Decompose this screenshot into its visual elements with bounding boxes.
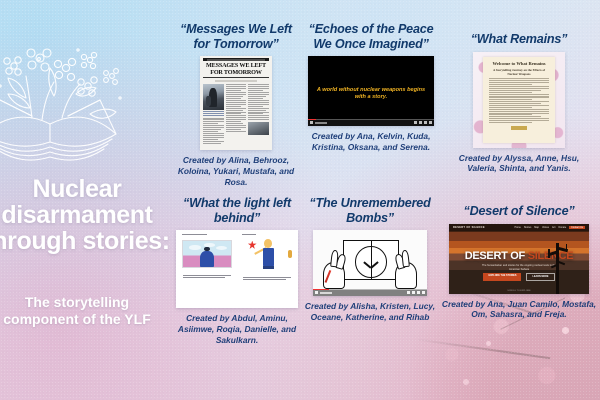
play-icon[interactable] — [310, 121, 313, 124]
illustration-left-label — [182, 234, 222, 236]
page-title: Nuclear disarmament through stories: — [0, 176, 172, 254]
video-player-controls[interactable] — [308, 119, 434, 126]
nav-item-contact-us[interactable]: Contact Us — [569, 226, 585, 229]
peace-symbol-icon — [355, 246, 387, 278]
website-navbar[interactable]: DESERT OF SILENCE Home Stories Map Voice… — [449, 224, 589, 232]
illustration-television-scene — [182, 240, 232, 268]
nav-item-voices[interactable]: Voices — [542, 226, 549, 229]
settings-gear-icon[interactable] — [412, 291, 415, 294]
nav-item-home[interactable]: Home — [514, 226, 520, 229]
project-title: “What Remains” — [443, 32, 595, 47]
website-logo[interactable]: DESERT OF SILENCE — [453, 226, 485, 229]
video-progress-bar[interactable] — [313, 289, 427, 290]
hand-icon — [393, 252, 418, 289]
fullscreen-icon[interactable] — [429, 121, 432, 124]
explore-the-stories-button[interactable]: EXPLORE THE STORIES — [483, 273, 521, 281]
website-subheading: A Storytelling Journey on the Effects of… — [489, 68, 549, 76]
nav-item-act[interactable]: Act — [552, 226, 555, 229]
nav-item-donate[interactable]: Donate — [558, 226, 566, 229]
website-body-text — [489, 78, 549, 122]
theater-mode-icon[interactable] — [424, 121, 427, 124]
video-caption: A world without nuclear weapons begins w… — [316, 87, 427, 101]
newspaper-columns — [203, 84, 269, 146]
illustration-left-caption — [183, 275, 230, 279]
newspaper-column-text — [203, 118, 224, 145]
settings-gear-icon[interactable] — [419, 121, 422, 124]
video-thumbnail[interactable]: A world without nuclear weapons begins w… — [308, 56, 434, 126]
hand-icon — [322, 252, 347, 289]
project-card-messages-we-left-for-tomorrow[interactable]: “Messages We Left for Tomorrow” MESSAGES… — [172, 22, 300, 188]
hero-panel: Nuclear disarmament through stories: The… — [0, 0, 172, 400]
project-card-echoes-of-the-peace-we-once-imagined[interactable]: “Echoes of the Peace We Once Imagined” A… — [306, 22, 436, 153]
play-icon[interactable] — [315, 291, 318, 294]
project-credit: Created by Alina, Behrooz, Koloina, Yuka… — [172, 155, 300, 187]
newspaper-photo-secondary — [248, 122, 269, 135]
video-timestamp — [315, 122, 327, 124]
website-thumbnail[interactable]: DESERT OF SILENCE Home Stories Map Voice… — [449, 224, 589, 294]
website-heading: Welcome to What Remains — [489, 61, 549, 66]
project-credit: Created by Abdul, Aminu, Asiimwe, Roqia,… — [172, 313, 302, 345]
newspaper-column-text — [248, 84, 269, 121]
illustration-right-caption — [243, 277, 290, 281]
illustration-right-label — [242, 234, 282, 236]
newspaper-thumbnail[interactable]: MESSAGES WE LEFT FOR TOMORROW — [200, 56, 272, 150]
project-title: “What the light left behind” — [172, 196, 302, 225]
project-title: “The Unremembered Bombs” — [304, 196, 436, 225]
project-credit: Created by Alisha, Kristen, Lucy, Oceane… — [304, 301, 436, 323]
website-nav-items[interactable]: Home Stories Map Voices Act Donate Conta… — [514, 226, 585, 229]
hero-title-part-1: DESERT OF — [465, 250, 528, 262]
video-thumbnail[interactable] — [313, 230, 427, 296]
peace-sign-drawing-illustration — [313, 230, 427, 296]
project-card-what-the-light-left-behind[interactable]: “What the light left behind” — [172, 196, 302, 346]
website-thumbnail[interactable]: Welcome to What Remains A Storytelling J… — [473, 52, 565, 148]
project-credit: Created by Ana, Kelvin, Kuda, Kristina, … — [306, 131, 436, 153]
nav-item-stories[interactable]: Stories — [524, 226, 531, 229]
website-learn-more-button[interactable] — [511, 126, 527, 130]
video-right-controls[interactable] — [407, 291, 425, 294]
website-content-card: Welcome to What Remains A Storytelling J… — [483, 57, 555, 142]
theater-mode-icon[interactable] — [417, 291, 420, 294]
project-title: “Echoes of the Peace We Once Imagined” — [306, 22, 436, 51]
newspaper-column-text — [226, 84, 247, 133]
nav-item-map[interactable]: Map — [534, 226, 539, 229]
captions-icon[interactable] — [414, 121, 417, 124]
newspaper-date-line — [215, 80, 257, 82]
fullscreen-icon[interactable] — [422, 291, 425, 294]
video-player-controls[interactable] — [313, 289, 427, 296]
illustration-left-panel — [179, 234, 235, 304]
project-credit: Created by Alyssa, Anne, Hsu, Valeria, S… — [443, 153, 595, 175]
video-right-controls[interactable] — [414, 121, 432, 124]
project-card-desert-of-silence[interactable]: “Desert of Silence” DESERT OF SILENCE Ho… — [440, 204, 598, 320]
page-subtitle: The storytelling component of the YLF — [0, 294, 168, 328]
open-book-with-flowers-illustration — [0, 38, 130, 178]
project-card-the-unremembered-bombs[interactable]: “The Unremembered Bombs” — [304, 196, 436, 323]
project-credit: Created by Ana, Juan Camilo, Mostafa, Om… — [440, 299, 598, 321]
newspaper-kicker — [203, 58, 269, 61]
video-progress-bar[interactable] — [308, 119, 434, 120]
newspaper-photo — [203, 84, 224, 110]
newspaper-headline: MESSAGES WE LEFT FOR TOMORROW — [203, 63, 269, 78]
video-timestamp — [320, 292, 332, 294]
illustration-right-panel — [239, 234, 295, 304]
newspaper-lead-text — [203, 111, 224, 116]
project-card-what-remains[interactable]: “What Remains” Welcome to What Remains A… — [443, 32, 595, 174]
project-title: “Desert of Silence” — [440, 204, 598, 219]
slide-canvas: Nuclear disarmament through stories: The… — [0, 0, 600, 400]
red-star-icon — [248, 241, 257, 250]
joshua-tree-silhouette — [546, 243, 570, 293]
captions-icon[interactable] — [407, 291, 410, 294]
illustration-thumbnail[interactable] — [176, 230, 298, 308]
illustration-child-scene — [243, 239, 291, 271]
project-title: “Messages We Left for Tomorrow” — [172, 22, 300, 51]
